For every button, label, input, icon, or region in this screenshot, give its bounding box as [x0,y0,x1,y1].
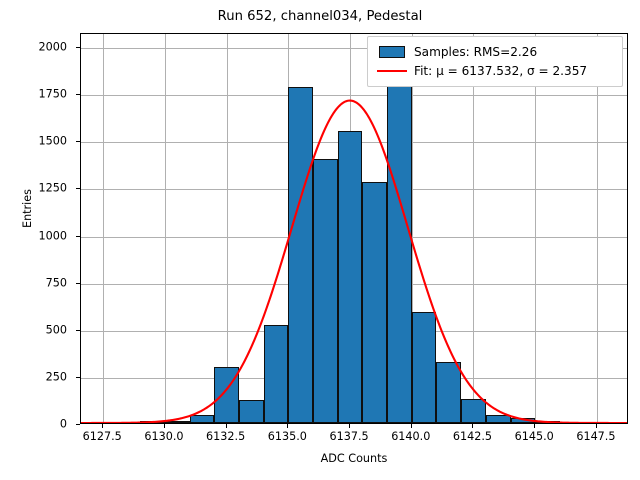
y-tick-label: 500 [46,323,67,336]
y-tick-label: 1500 [39,135,67,148]
y-tick-mark [76,330,80,331]
legend-label-fit: Fit: μ = 6137.532, σ = 2.357 [409,64,587,78]
x-tick-label: 6127.5 [83,430,122,443]
y-tick-label: 250 [46,370,67,383]
x-tick-label: 6142.5 [453,430,492,443]
y-tick-mark [76,377,80,378]
x-tick-label: 6130.0 [144,430,183,443]
legend-item-samples[interactable]: Samples: RMS=2.26 [375,42,615,61]
x-tick-label: 6135.0 [268,430,307,443]
y-tick-mark [76,236,80,237]
y-tick-mark [76,424,80,425]
y-tick-label: 1000 [39,229,67,242]
x-tick-mark [472,424,473,428]
x-tick-mark [226,424,227,428]
x-tick-label: 6145.0 [515,430,554,443]
y-tick-mark [76,283,80,284]
x-axis-label: ADC Counts [80,452,628,465]
plot-area[interactable] [80,33,628,424]
y-tick-mark [76,47,80,48]
x-tick-mark [287,424,288,428]
legend-line-icon [375,61,409,80]
x-tick-label: 6132.5 [206,430,245,443]
x-tick-mark [102,424,103,428]
y-tick-label: 2000 [39,41,67,54]
y-tick-mark [76,94,80,95]
legend-swatch-icon [375,42,409,61]
y-tick-label: 1750 [39,88,67,101]
x-tick-mark [349,424,350,428]
y-tick-mark [76,141,80,142]
y-tick-label: 0 [60,418,67,431]
fit-path [81,101,627,423]
y-tick-label: 750 [46,276,67,289]
x-tick-label: 6140.0 [391,430,430,443]
legend-item-fit[interactable]: Fit: μ = 6137.532, σ = 2.357 [375,61,615,80]
x-tick-mark [411,424,412,428]
gaussian-fit-curve [81,34,627,423]
figure-canvas: Run 652, channel034, Pedestal ADC Counts… [0,0,640,480]
chart-title: Run 652, channel034, Pedestal [0,9,640,24]
y-tick-label: 1250 [39,182,67,195]
x-tick-label: 6147.5 [576,430,615,443]
x-tick-mark [164,424,165,428]
y-axis-label: Entries [21,189,34,228]
legend-label-samples: Samples: RMS=2.26 [409,45,537,59]
x-tick-label: 6137.5 [329,430,368,443]
x-tick-mark [534,424,535,428]
x-tick-mark [596,424,597,428]
chart-legend[interactable]: Samples: RMS=2.26 Fit: μ = 6137.532, σ =… [367,36,623,87]
y-tick-mark [76,188,80,189]
